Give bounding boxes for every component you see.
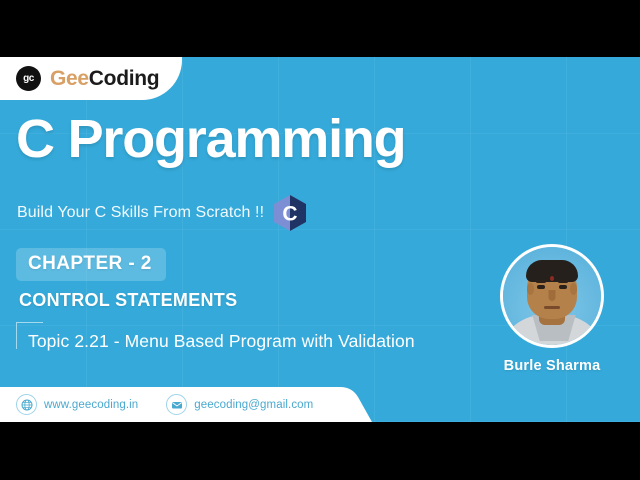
slide-canvas: gc GeeCoding C Programming Build Your C … [0,57,640,422]
brand-name-part2: Coding [89,67,160,90]
presenter-photo [503,247,601,345]
geecoding-logo-icon: gc [16,66,41,91]
chapter-subject: CONTROL STATEMENTS [19,290,237,311]
brand-name-part1: Gee [50,67,89,90]
letterbox-bar-top [0,0,640,57]
contact-email[interactable]: geecoding@gmail.com [166,394,313,415]
topic-title: Topic 2.21 - Menu Based Program with Val… [28,322,415,352]
website-text: www.geecoding.in [44,399,138,411]
contact-website[interactable]: www.geecoding.in [16,394,138,415]
slide-subtitle: Build Your C Skills From Scratch !! [17,204,264,222]
presenter-block: Burle Sharma [492,244,612,374]
brand-name: GeeCoding [50,67,159,91]
slide-subtitle-row: Build Your C Skills From Scratch !! C [17,195,306,231]
c-language-logo-icon: C [274,195,306,231]
contact-footer: www.geecoding.in geecoding@gmail.com [0,387,400,422]
presenter-name: Burle Sharma [492,358,612,374]
envelope-icon [166,394,187,415]
svg-text:C: C [283,203,298,226]
slide-title: C Programming [16,112,405,166]
letterbox-bar-bottom [0,422,640,480]
topic-block: Topic 2.21 - Menu Based Program with Val… [16,322,415,352]
brand-banner: gc GeeCoding [0,57,182,100]
presenter-avatar [500,244,604,348]
video-frame: gc GeeCoding C Programming Build Your C … [0,0,640,480]
globe-icon [16,394,37,415]
chapter-badge: CHAPTER - 2 [16,248,166,281]
contact-list: www.geecoding.in geecoding@gmail.com [16,387,313,422]
email-text: geecoding@gmail.com [194,399,313,411]
